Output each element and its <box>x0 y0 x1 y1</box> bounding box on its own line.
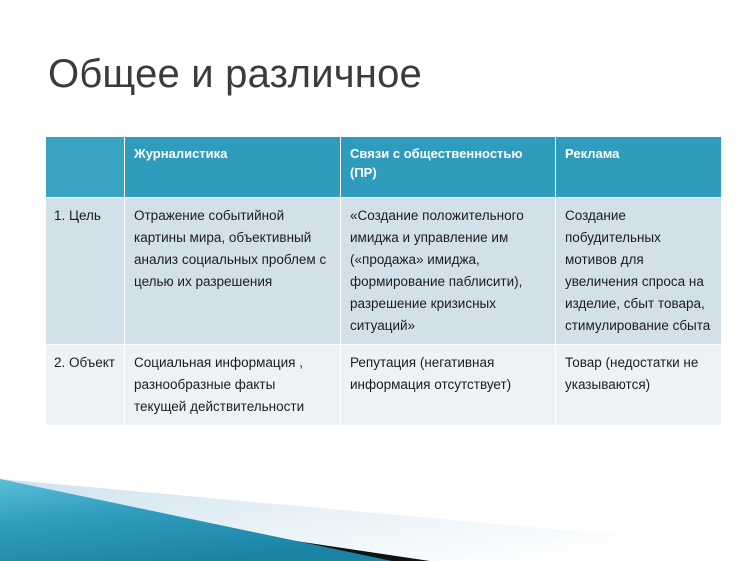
slide: Общее и различное Журналистика Связи с о… <box>0 0 750 561</box>
table-header-row: Журналистика Связи с общественностью (ПР… <box>46 137 722 198</box>
table-row: 2. Объект Социальная информация , разноо… <box>46 345 722 426</box>
table-header-cell-corner <box>46 137 125 198</box>
cell-goal-public-relations: «Создание положительного имиджа и управл… <box>341 198 556 345</box>
cell-goal-advertising: Создание побудительных мотивов для увели… <box>556 198 722 345</box>
table-row: 1. Цель Отражение событийной картины мир… <box>46 198 722 345</box>
table-body: 1. Цель Отражение событийной картины мир… <box>46 198 722 426</box>
comparison-table: Журналистика Связи с общественностью (ПР… <box>45 136 722 426</box>
diagonal-corner-band-decoration <box>0 461 750 561</box>
table-header: Журналистика Связи с общественностью (ПР… <box>46 137 722 198</box>
cell-object-public-relations: Репутация (негативная информация отсутст… <box>341 345 556 426</box>
cell-goal-journalism: Отражение событийной картины мира, объек… <box>125 198 341 345</box>
table-header-cell-public-relations: Связи с общественностью (ПР) <box>341 137 556 198</box>
cell-object-advertising: Товар (недостатки не указываются) <box>556 345 722 426</box>
dark-stripe-shape <box>0 497 430 561</box>
row-label-object: 2. Объект <box>46 345 125 426</box>
teal-wedge-shape <box>0 479 392 561</box>
table-header-cell-journalism: Журналистика <box>125 137 341 198</box>
cell-object-journalism: Социальная информация , разнообразные фа… <box>125 345 341 426</box>
table-header-cell-advertising: Реклама <box>556 137 722 198</box>
row-label-goal: 1. Цель <box>46 198 125 345</box>
pale-wedge-shape <box>0 479 750 561</box>
page-title: Общее и различное <box>48 50 422 98</box>
